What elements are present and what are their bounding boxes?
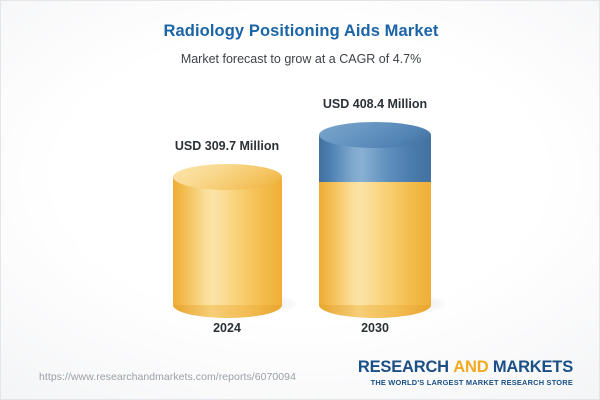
infographic-card: Radiology Positioning Aids Market Market… [0,0,600,400]
cylinder-segment-base-2030 [319,178,431,305]
chart-plot-area: USD 309.7 Million 2024 USD 408.4 Million [1,1,600,400]
research-and-markets-logo[interactable]: RESEARCH AND MARKETS THE WORLD'S LARGEST… [358,358,573,388]
chart-footer: https://www.researchandmarkets.com/repor… [1,353,600,399]
logo-word-and: AND [453,358,488,376]
logo-word-research: RESEARCH [358,358,449,376]
value-label-2030: USD 408.4 Million [265,97,485,111]
cylinder-top-ellipse-2024 [173,164,282,190]
category-label-2030: 2030 [265,321,485,335]
logo-tagline: THE WORLD'S LARGEST MARKET RESEARCH STOR… [358,378,573,388]
logo-wordmark: RESEARCH AND MARKETS [358,358,573,376]
cylinder-top-ellipse-2030 [319,122,431,148]
source-url[interactable]: https://www.researchandmarkets.com/repor… [39,371,296,383]
value-label-2024: USD 309.7 Million [117,139,337,153]
logo-word-markets: MARKETS [493,358,573,376]
cylinder-body-2024 [173,177,282,305]
